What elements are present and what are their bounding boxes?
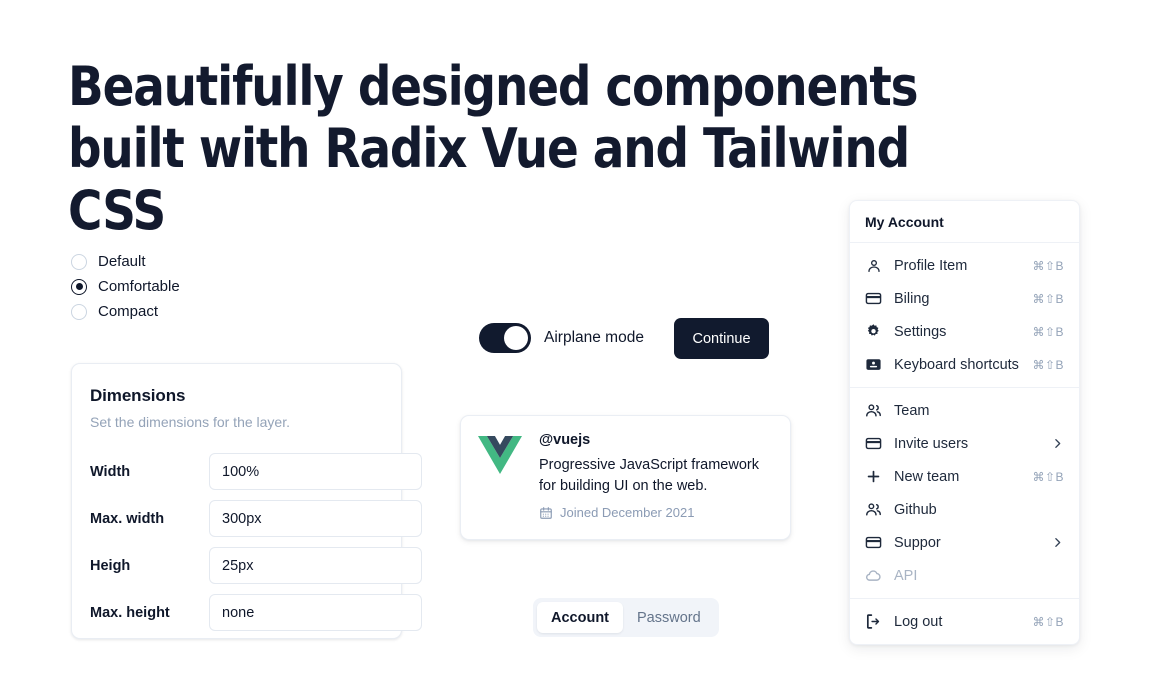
vue-logo-icon [478,435,522,475]
menu-item-label: Suppor [894,535,1051,551]
menu-item-log-out[interactable]: Log out ⌘⇧B [855,605,1074,638]
logout-icon [865,613,882,630]
credit-card-icon [865,534,882,551]
menu-item-shortcut: ⌘⇧B [1032,292,1064,306]
width-label: Width [90,464,209,480]
max-width-label: Max. width [90,511,209,527]
users-icon [865,501,882,518]
menu-group-team: Team Invite users [850,388,1079,598]
airplane-mode-switch-group[interactable]: Airplane mode [479,323,644,353]
menu-item-label: Settings [894,324,1032,340]
dimensions-row-max-height: Max. height [90,589,383,636]
menu-item-shortcut: ⌘⇧B [1032,358,1064,372]
hover-card-description: Progressive JavaScript framework for bui… [539,455,773,497]
max-height-input[interactable] [209,594,422,631]
menu-item-label: Biling [894,291,1032,307]
menu-item-label: Log out [894,614,1032,630]
switch-knob [504,326,528,350]
menu-group-account: Profile Item ⌘⇧B Biling ⌘⇧B [850,243,1079,387]
dimensions-row-max-width: Max. width [90,495,383,542]
plus-icon [865,468,882,485]
user-icon [865,257,882,274]
menu-item-shortcut: ⌘⇧B [1032,325,1064,339]
menu-label: My Account [850,201,1079,242]
menu-item-api: API [855,559,1074,592]
chevron-right-icon [1051,437,1064,450]
chevron-right-icon [1051,536,1064,549]
max-width-input[interactable] [209,500,422,537]
keyboard-icon [865,356,882,373]
radio-label: Comfortable [98,279,180,294]
airplane-mode-switch[interactable] [479,323,531,353]
credit-card-icon [865,290,882,307]
radio-circle-icon[interactable] [71,304,87,320]
radio-circle-icon[interactable] [71,254,87,270]
hover-card-handle: @vuejs [539,432,773,448]
menu-item-label: Profile Item [894,258,1032,274]
menu-item-label: Keyboard shortcuts [894,357,1032,373]
menu-item-support[interactable]: Suppor [855,526,1074,559]
menu-item-label: Github [894,502,1064,518]
width-input[interactable] [209,453,422,490]
height-label: Heigh [90,558,209,574]
height-input[interactable] [209,547,422,584]
menu-item-label: API [894,568,1064,584]
menu-item-keyboard-shortcuts[interactable]: Keyboard shortcuts ⌘⇧B [855,348,1074,381]
menu-item-shortcut: ⌘⇧B [1032,615,1064,629]
settings-tabs: Account Password [533,598,719,637]
menu-item-shortcut: ⌘⇧B [1032,470,1064,484]
users-icon [865,402,882,419]
radio-option-comfortable[interactable]: Comfortable [71,274,180,299]
menu-item-team[interactable]: Team [855,394,1074,427]
dimensions-subtitle: Set the dimensions for the layer. [90,414,383,430]
vue-hover-card: @vuejs Progressive JavaScript framework … [460,415,791,540]
dimensions-row-height: Heigh [90,542,383,589]
calendar-icon [539,506,553,520]
menu-item-label: Invite users [894,436,1051,452]
page-root: Beautifully designed components built wi… [0,0,1152,700]
hover-card-body: @vuejs Progressive JavaScript framework … [539,432,773,523]
tab-password[interactable]: Password [623,602,715,633]
dimensions-card: Dimensions Set the dimensions for the la… [71,363,402,639]
menu-item-profile[interactable]: Profile Item ⌘⇧B [855,249,1074,282]
hover-card-joined-text: Joined December 2021 [560,505,694,520]
menu-item-github[interactable]: Github [855,493,1074,526]
radio-option-compact[interactable]: Compact [71,299,180,324]
menu-item-label: New team [894,469,1032,485]
radio-option-default[interactable]: Default [71,249,180,274]
cloud-icon [865,567,882,584]
account-dropdown-menu: My Account Profile Item ⌘⇧B Biling [849,200,1080,645]
menu-item-shortcut: ⌘⇧B [1032,259,1064,273]
hover-card-meta: Joined December 2021 [539,505,773,520]
menu-group-session: Log out ⌘⇧B [850,599,1079,644]
menu-item-label: Team [894,403,1064,419]
dimensions-field-list: Width Max. width Heigh Max. height [90,448,383,636]
menu-item-new-team[interactable]: New team ⌘⇧B [855,460,1074,493]
continue-button[interactable]: Continue [674,318,769,359]
gear-icon [865,323,882,340]
radio-label: Default [98,254,146,269]
tab-account[interactable]: Account [537,602,623,633]
credit-card-icon [865,435,882,452]
dimensions-title: Dimensions [90,386,383,406]
menu-item-invite-users[interactable]: Invite users [855,427,1074,460]
menu-item-settings[interactable]: Settings ⌘⇧B [855,315,1074,348]
menu-item-billing[interactable]: Biling ⌘⇧B [855,282,1074,315]
switch-label: Airplane mode [544,329,644,347]
dimensions-row-width: Width [90,448,383,495]
radio-circle-checked-icon[interactable] [71,279,87,295]
max-height-label: Max. height [90,605,209,621]
radio-label: Compact [98,304,158,319]
radio-group-density[interactable]: Default Comfortable Compact [71,249,180,324]
